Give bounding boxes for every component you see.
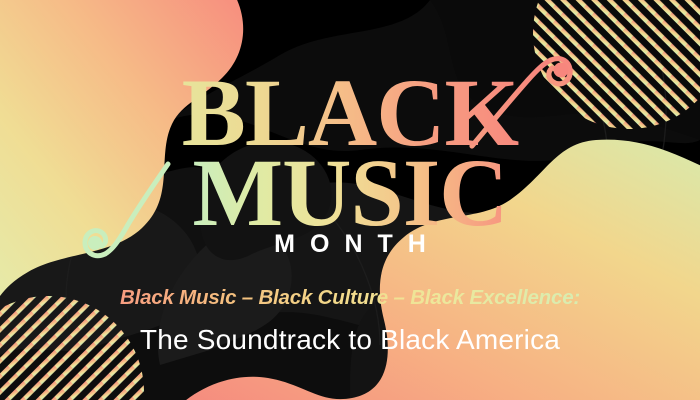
black-music-month-banner: BLACK MUSIC MONTH Black Music – Black Cu… (0, 0, 700, 400)
background-artwork (0, 0, 700, 400)
